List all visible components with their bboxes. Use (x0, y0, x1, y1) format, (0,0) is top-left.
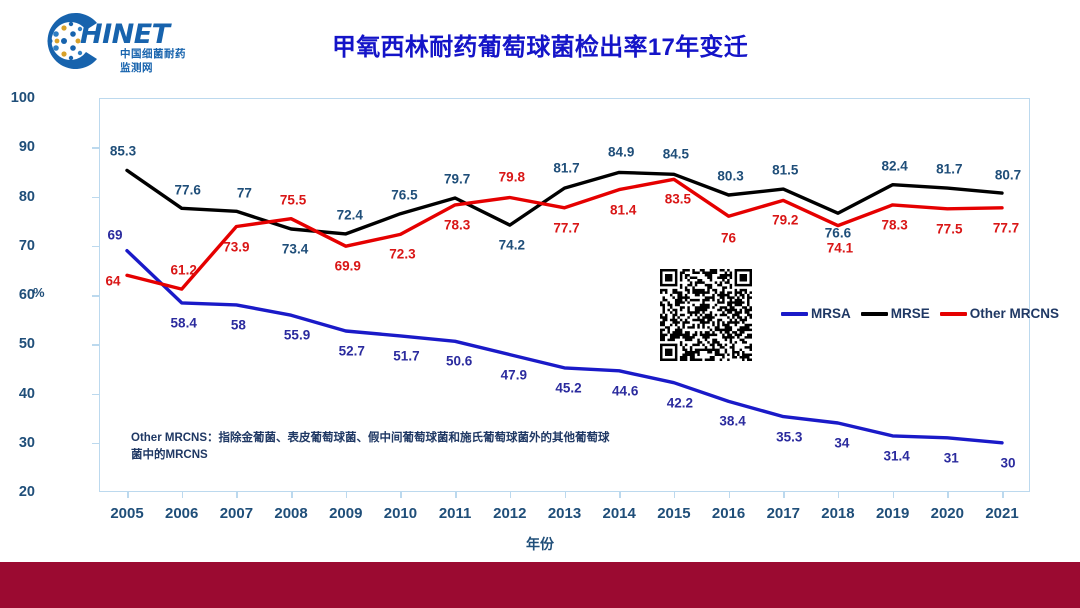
y-tick-label: 20 (0, 484, 35, 500)
y-tick-mark (92, 443, 99, 445)
data-label: 85.3 (110, 144, 136, 159)
y-tick-label: 50 (0, 336, 35, 352)
data-label: 76.5 (391, 187, 417, 202)
y-axis-title: % (33, 285, 45, 300)
data-label: 35.3 (776, 429, 802, 444)
data-label: 75.5 (280, 192, 306, 207)
bottom-accent-bar (0, 562, 1080, 608)
data-label: 73.4 (282, 242, 308, 257)
data-label: 61.2 (171, 263, 197, 278)
data-label: 58.4 (171, 315, 197, 330)
y-tick-label: 70 (0, 238, 35, 254)
y-tick-label: 60 (0, 287, 35, 303)
y-tick-mark (92, 197, 99, 199)
data-label: 72.3 (389, 247, 415, 262)
data-label: 51.7 (393, 348, 419, 363)
data-label: 69.9 (335, 259, 361, 274)
y-tick-label: 100 (0, 90, 35, 106)
data-label: 44.6 (612, 383, 638, 398)
data-label: 38.4 (719, 414, 745, 429)
data-label: 83.5 (665, 192, 691, 207)
data-label: 81.7 (553, 161, 579, 176)
x-tick-mark (1002, 492, 1004, 498)
x-tick-mark (783, 492, 785, 498)
legend-swatch (861, 312, 888, 316)
x-tick-mark (565, 492, 567, 498)
data-label: 79.2 (772, 213, 798, 228)
legend-item-mrsa[interactable]: MRSA (781, 306, 851, 321)
data-label: 79.8 (499, 170, 525, 185)
x-tick-mark (838, 492, 840, 498)
x-tick-mark (127, 492, 129, 498)
data-label: 77.6 (175, 183, 201, 198)
x-tick-mark (510, 492, 512, 498)
legend-item-mrse[interactable]: MRSE (861, 306, 930, 321)
data-label: 78.3 (881, 217, 907, 232)
data-label: 34 (834, 436, 849, 451)
y-tick-mark (92, 147, 99, 149)
data-label: 74.1 (827, 240, 853, 255)
y-tick-mark (92, 246, 99, 248)
data-label: 52.7 (339, 343, 365, 358)
data-label: 72.4 (337, 207, 363, 222)
x-tick-mark (619, 492, 621, 498)
data-label: 84.5 (663, 147, 689, 162)
chart-lines (0, 0, 1080, 560)
data-label: 80.7 (995, 168, 1021, 183)
y-tick-mark (92, 295, 99, 297)
data-label: 78.3 (444, 217, 470, 232)
y-tick-label: 90 (0, 139, 35, 155)
data-label: 74.2 (499, 238, 525, 253)
legend-label: Other MRCNS (970, 306, 1059, 321)
x-axis-title: 年份 (0, 534, 1080, 554)
data-label: 47.9 (501, 367, 527, 382)
x-tick-mark (947, 492, 949, 498)
data-label: 77.5 (936, 221, 962, 236)
chart-container: 2030405060708090100 20052006200720082009… (0, 0, 1080, 560)
x-tick-mark (893, 492, 895, 498)
legend-label: MRSE (891, 306, 930, 321)
data-label: 76 (721, 231, 736, 246)
data-label: 79.7 (444, 171, 470, 186)
y-tick-mark (92, 394, 99, 396)
x-tick-mark (346, 492, 348, 498)
series-line-mrsa (127, 251, 1002, 443)
data-label: 82.4 (881, 158, 907, 173)
legend-label: MRSA (811, 306, 851, 321)
x-tick-label: 2021 (967, 505, 1037, 522)
data-label: 81.7 (936, 162, 962, 177)
x-tick-mark (291, 492, 293, 498)
data-label: 81.5 (772, 163, 798, 178)
data-label: 55.9 (284, 328, 310, 343)
y-tick-label: 40 (0, 386, 35, 402)
legend-swatch (781, 312, 808, 316)
data-label: 77 (237, 186, 252, 201)
data-label: 77.7 (993, 220, 1019, 235)
data-label: 84.9 (608, 145, 634, 160)
data-label: 73.9 (223, 239, 249, 254)
y-tick-label: 30 (0, 435, 35, 451)
y-tick-label: 80 (0, 189, 35, 205)
y-tick-mark (92, 344, 99, 346)
chart-legend: MRSAMRSEOther MRCNS (781, 306, 1066, 321)
data-label: 42.2 (667, 395, 693, 410)
data-label: 50.6 (446, 354, 472, 369)
data-label: 58 (231, 317, 246, 332)
data-label: 69 (107, 227, 122, 242)
data-label: 31.4 (883, 448, 909, 463)
qr-code-icon (660, 269, 752, 361)
x-tick-mark (729, 492, 731, 498)
x-tick-mark (455, 492, 457, 498)
x-tick-mark (400, 492, 402, 498)
qr-code[interactable] (660, 269, 752, 361)
data-label: 30 (1000, 455, 1015, 470)
data-label: 31 (944, 450, 959, 465)
data-label: 80.3 (717, 169, 743, 184)
legend-swatch (940, 312, 967, 316)
data-label: 76.6 (825, 226, 851, 241)
x-tick-mark (674, 492, 676, 498)
footnote-text: Other MRCNS：指除金葡菌、表皮葡萄球菌、假中间葡萄球菌和施氏葡萄球菌外… (131, 430, 611, 463)
x-tick-mark (182, 492, 184, 498)
data-label: 45.2 (555, 380, 581, 395)
x-tick-mark (236, 492, 238, 498)
data-label: 77.7 (553, 220, 579, 235)
data-label: 64 (105, 274, 120, 289)
data-label: 81.4 (610, 202, 636, 217)
legend-item-other-mrcns[interactable]: Other MRCNS (940, 306, 1059, 321)
